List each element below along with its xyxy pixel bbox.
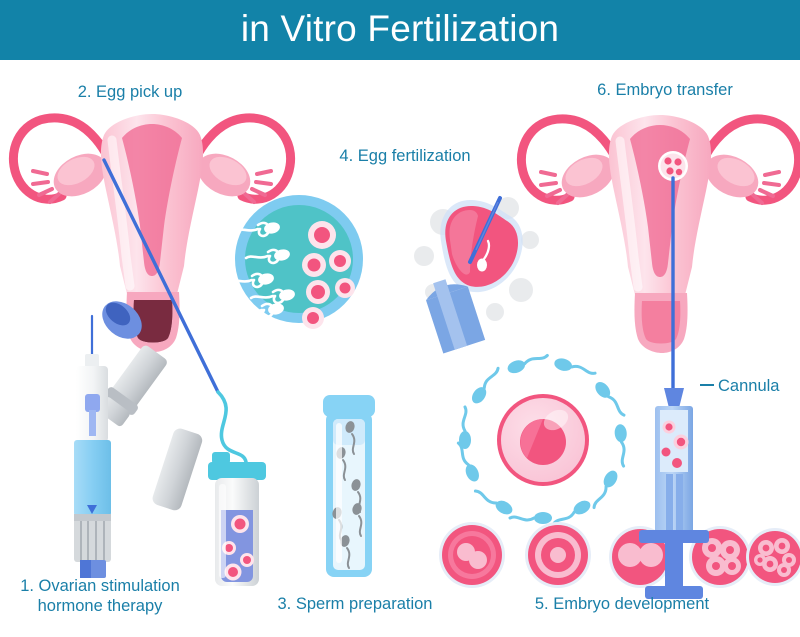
ivf-infographic: in Vitro Fertilization (0, 0, 800, 637)
embryo-development-row-illustration (439, 522, 800, 588)
petri-dish-illustration (230, 195, 363, 329)
step-label-egg-pick-up: 2. Egg pick up (30, 82, 230, 102)
step-label-embryo-transfer: 6. Embryo transfer (565, 80, 765, 100)
uterus-egg-pickup-illustration (13, 114, 290, 512)
egg-collection-tube-illustration (208, 452, 266, 586)
sperm-preparation-tube-illustration (323, 395, 375, 577)
embryo-stage-2 (525, 522, 591, 588)
callout-label-cannula: Cannula (718, 376, 798, 396)
page-title: in Vitro Fertilization (0, 0, 800, 60)
embryo-stage-3 (609, 526, 671, 588)
step-label-egg-fertilization: 4. Egg fertilization (325, 146, 485, 166)
uterus-embryo-transfer-illustration (521, 115, 798, 390)
embryo-transfer-syringe-illustration (639, 388, 709, 599)
icsi-microinjection-illustration (414, 197, 539, 353)
embryo-stage-4 (689, 526, 751, 588)
step-label-sperm-preparation: 3. Sperm preparation (255, 594, 455, 614)
hormone-injection-pen-illustration (74, 316, 111, 578)
egg-surrounded-by-sperm-illustration (453, 350, 630, 529)
embryo-stage-1 (439, 522, 505, 588)
sperm-group (453, 350, 630, 529)
embryo-stage-5 (746, 528, 800, 586)
step-label-embryo-development: 5. Embryo development (522, 594, 722, 614)
step-label-ovarian-stimulation: 1. Ovarian stimulation hormone therapy (0, 576, 200, 616)
